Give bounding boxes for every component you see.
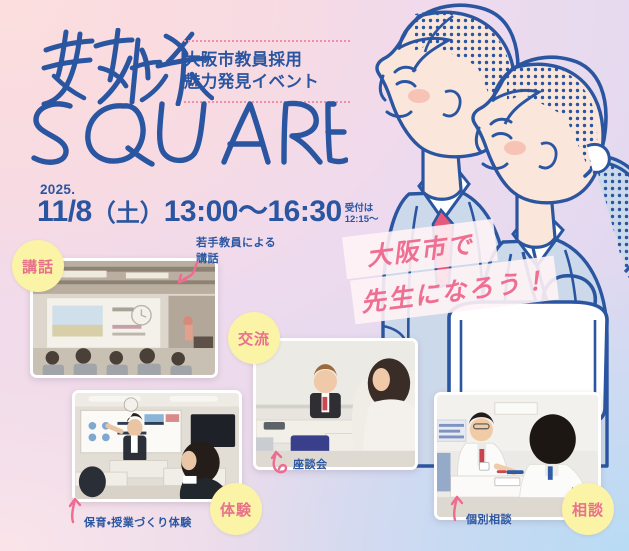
caption-experience: 保育・授業づくり体験 [84,516,192,532]
subtitle-line-1: 大阪市教員採用 [184,50,350,72]
badge-consultation: 相談 [562,483,614,535]
arrow-icon-lecture [176,258,202,286]
photo-classroom [72,390,242,502]
reception-label: 受付は [345,203,379,214]
event-time: 13:00〜16:30 [164,197,342,227]
event-datetime: 11/8 （土） 13:00〜16:30 受付は 12:15〜 [37,197,379,227]
poster-canvas: 大阪市教員採用 魅力発見イベント 2025. 11/8 （土） 13:00〜16… [0,0,629,551]
logo-square-text [28,96,348,168]
arrow-icon-consultation [444,494,470,522]
caption-exchange: 座談会 [293,458,328,474]
reception-time: 12:15〜 [345,214,379,225]
event-date: 11/8 [37,197,92,227]
caption-lecture: 若手教員による 講話 [196,236,276,267]
arrow-icon-exchange [268,448,294,476]
badge-exchange: 交流 [228,312,280,364]
caption-consultation: 個別相談 [466,513,512,529]
arrow-icon-experience [62,496,88,524]
badge-lecture: 講話 [12,240,64,292]
badge-experience: 体験 [210,483,262,535]
reception-note: 受付は 12:15〜 [345,203,379,227]
subtitle-badge: 大阪市教員採用 魅力発見イベント [184,40,350,103]
subtitle-line-2: 魅力発見イベント [184,72,350,94]
event-weekday: （土） [92,202,164,227]
